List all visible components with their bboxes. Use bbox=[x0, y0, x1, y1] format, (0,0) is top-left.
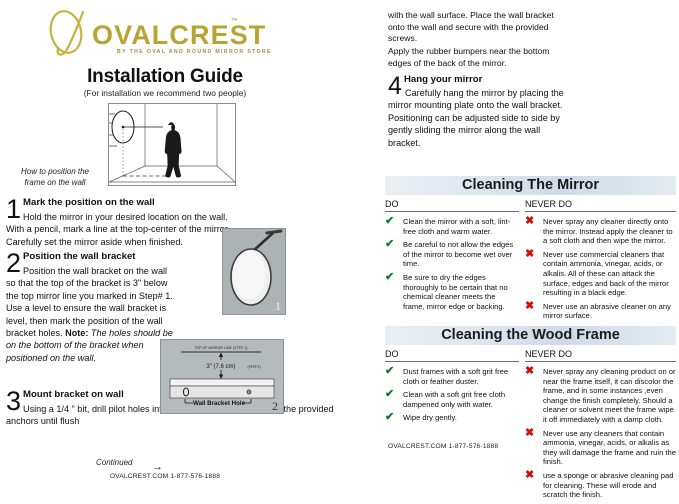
svg-text:3" (7.6 cm): 3" (7.6 cm) bbox=[206, 364, 235, 370]
oval-monogram-icon bbox=[42, 8, 96, 56]
list-item-text: Clean the mirror with a soft, lint-free … bbox=[403, 217, 510, 236]
step-1-heading: Mark the position on the wall bbox=[23, 197, 155, 208]
list-item: ✔Clean the mirror with a soft, lint-free… bbox=[385, 217, 519, 236]
panel-mirror-never-column: NEVER DO ✖Never spray any cleaner direct… bbox=[525, 199, 676, 325]
step-4-body-text: Carefully hang the mirror by placing the… bbox=[388, 88, 564, 148]
cross-icon: ✖ bbox=[525, 428, 534, 439]
list-item: ✔Dust frames with a soft grit free cloth… bbox=[385, 367, 519, 386]
diagram-caption: How to position the frame on the wall bbox=[6, 166, 104, 188]
bracket-measurement-svg: TOP OF MIRROR LINE (STEP 1) 3" (7.6 cm) … bbox=[161, 340, 283, 413]
photo-bracket-diagram: TOP OF MIRROR LINE (STEP 1) 3" (7.6 cm) … bbox=[160, 339, 284, 414]
continuation-paragraph-1: with the wall surface. Place the wall br… bbox=[388, 10, 568, 45]
list-item-text: Never use commercial cleaners that conta… bbox=[543, 250, 669, 297]
panel-mirror-columns: DO ✔Clean the mirror with a soft, lint-f… bbox=[385, 199, 676, 334]
panel-frame-columns: DO ✔Dust frames with a soft grit free cl… bbox=[385, 349, 676, 479]
list-item-text: Be careful to not allow the edges of the… bbox=[403, 240, 513, 268]
list-item-text: Never spray any cleaner directly onto th… bbox=[543, 217, 673, 245]
list-item: ✔Be careful to not allow the edges of th… bbox=[385, 240, 519, 269]
panel-frame-never-column: NEVER DO ✖Never spray any cleaning produ… bbox=[525, 349, 676, 504]
panel-frame-never-list: ✖Never spray any cleaning product on or … bbox=[525, 367, 676, 500]
step-3-heading: Mount bracket on wall bbox=[23, 389, 124, 400]
left-column: OVALCREST ™ BY THE OVAL AND ROUND MIRROR… bbox=[0, 0, 378, 489]
check-icon: ✔ bbox=[385, 412, 394, 423]
panel-mirror-do-list: ✔Clean the mirror with a soft, lint-free… bbox=[385, 217, 519, 311]
continuation-paragraph-2: Apply the rubber bumpers near the bottom… bbox=[388, 46, 568, 69]
check-icon: ✔ bbox=[385, 239, 394, 250]
step-4-body: Carefully hang the mirror by placing the… bbox=[388, 87, 573, 149]
svg-text:Wall Bracket Hole: Wall Bracket Hole bbox=[193, 400, 246, 407]
step-4-heading: Hang your mirror bbox=[404, 74, 482, 85]
footer-left: OVALCREST.COM 1-877-576-1888 bbox=[0, 473, 330, 480]
panel-frame-title: Cleaning the Wood Frame bbox=[385, 326, 676, 345]
photo-mirror: 1 bbox=[222, 228, 286, 315]
continued-arrow-icon: → bbox=[152, 461, 163, 473]
check-icon: ✔ bbox=[385, 366, 394, 377]
room-perspective-svg bbox=[109, 104, 235, 185]
list-item: ✖Never use any cleaners that contain amm… bbox=[525, 429, 676, 467]
page-title: Installation Guide bbox=[0, 66, 330, 88]
list-item: ✖Never spray any cleaning product on or … bbox=[525, 367, 676, 425]
svg-text:(STEP 2): (STEP 2) bbox=[247, 365, 260, 369]
panel-cleaning-the-mirror: Cleaning The Mirror DO ✔Clean the mirror… bbox=[385, 176, 676, 334]
diagram-caption-line1: How to position the bbox=[21, 167, 89, 176]
list-item-text: Never spray any cleaning product on or n… bbox=[543, 367, 676, 424]
brand-tagline: BY THE OVAL AND ROUND MIRROR STORE bbox=[117, 49, 272, 55]
trademark-symbol: ™ bbox=[231, 18, 238, 25]
brand-wordmark: OVALCREST bbox=[92, 20, 266, 51]
svg-text:TOP OF MIRROR LINE (STEP 1): TOP OF MIRROR LINE (STEP 1) bbox=[194, 346, 247, 350]
list-item: ✖use a sponge or abrasive cleaning pad f… bbox=[525, 471, 676, 500]
installation-guide-page: OVALCREST ™ BY THE OVAL AND ROUND MIRROR… bbox=[0, 0, 679, 489]
cross-icon: ✖ bbox=[525, 366, 534, 377]
step-2-body: Position the wall bracket on the wall so… bbox=[6, 265, 174, 364]
list-item: ✔Be sure to dry the edges thoroughly to … bbox=[385, 273, 519, 311]
cross-icon: ✖ bbox=[525, 216, 534, 227]
list-item: ✖Never use commercial cleaners that cont… bbox=[525, 250, 676, 298]
panel-mirror-title: Cleaning The Mirror bbox=[385, 176, 676, 195]
panel-frame-do-column: DO ✔Dust frames with a soft grit free cl… bbox=[385, 349, 519, 427]
right-column: with the wall surface. Place the wall br… bbox=[388, 0, 679, 489]
list-item: ✖Never use an abrasive cleaner on any mi… bbox=[525, 302, 676, 321]
cross-icon: ✖ bbox=[525, 301, 534, 312]
page-subtitle: (For installation we recommend two peopl… bbox=[0, 88, 330, 98]
footer-right: OVALCREST.COM 1-877-576-1888 bbox=[388, 443, 498, 450]
list-item-text: Dust frames with a soft grit free cloth … bbox=[403, 367, 508, 386]
list-item-text: Be sure to dry the edges thoroughly to b… bbox=[403, 273, 508, 311]
diagram-caption-line2: frame on the wall bbox=[25, 178, 86, 187]
panel-mirror-never-heading: NEVER DO bbox=[525, 199, 676, 212]
panel-cleaning-the-wood-frame: Cleaning the Wood Frame DO ✔Dust frames … bbox=[385, 326, 676, 479]
cross-icon: ✖ bbox=[525, 470, 534, 481]
check-icon: ✔ bbox=[385, 272, 394, 283]
list-item-text: use a sponge or abrasive cleaning pad fo… bbox=[543, 471, 673, 499]
cross-icon: ✖ bbox=[525, 249, 534, 260]
panel-mirror-never-list: ✖Never spray any cleaner directly onto t… bbox=[525, 217, 676, 321]
brand-logo: OVALCREST ™ BY THE OVAL AND ROUND MIRROR… bbox=[42, 8, 247, 58]
step-1-body: Hold the mirror in your desired location… bbox=[6, 211, 244, 248]
panel-frame-never-heading: NEVER DO bbox=[525, 349, 676, 362]
list-item: ✖Never spray any cleaner directly onto t… bbox=[525, 217, 676, 246]
photo-1-number: 1 bbox=[275, 299, 281, 314]
room-position-diagram bbox=[108, 103, 236, 186]
panel-frame-do-list: ✔Dust frames with a soft grit free cloth… bbox=[385, 367, 519, 423]
list-item: ✔Clean with a soft grit free cloth dampe… bbox=[385, 390, 519, 409]
list-item-text: Wipe dry gently. bbox=[403, 413, 457, 422]
photo-2-number: 2 bbox=[272, 399, 278, 414]
list-item-text: Clean with a soft grit free cloth dampen… bbox=[403, 390, 505, 409]
check-icon: ✔ bbox=[385, 216, 394, 227]
list-item: ✔Wipe dry gently. bbox=[385, 413, 519, 423]
script-o-glyph bbox=[42, 9, 96, 57]
step-2-heading: Position the wall bracket bbox=[23, 251, 136, 262]
check-icon: ✔ bbox=[385, 389, 394, 400]
panel-frame-do-heading: DO bbox=[385, 349, 519, 362]
step-2-note-label: Note: bbox=[65, 328, 88, 338]
panel-mirror-do-column: DO ✔Clean the mirror with a soft, lint-f… bbox=[385, 199, 519, 315]
step-1-body-text: Hold the mirror in your desired location… bbox=[6, 212, 230, 247]
list-item-text: Never use an abrasive cleaner on any mir… bbox=[543, 302, 671, 321]
panel-mirror-do-heading: DO bbox=[385, 199, 519, 212]
list-item-text: Never use any cleaners that contain ammo… bbox=[543, 429, 676, 467]
